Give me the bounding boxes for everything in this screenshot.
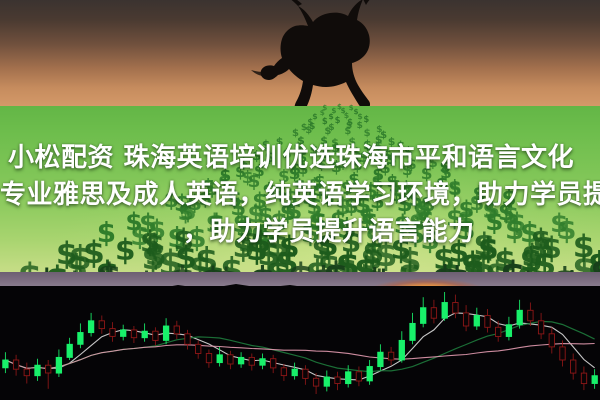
caption-line-1: 小松配资 珠海英语培训优选珠海市平和语言文化 xyxy=(8,140,574,177)
caption-line-3: ，助力学员提升语言能力 xyxy=(183,214,475,251)
dollar-sign-icon: $ xyxy=(335,116,341,124)
candlestick-chart xyxy=(0,286,600,400)
dollar-sign-icon: $ xyxy=(328,113,333,121)
caption-line-2: 专业雅思及成人英语，纯英语学习环境，助力学员提 xyxy=(0,177,600,214)
dollar-sign-icon: $ xyxy=(305,126,312,136)
dollar-sign-icon: $ xyxy=(363,115,369,123)
banner-image: $$$$$$$$$$$$$$$$$$$$$$$$$$$$$$$$$$$$$$$$… xyxy=(0,0,600,400)
dollar-sign-icon: $ xyxy=(356,121,362,130)
dollar-sign-icon: $ xyxy=(322,117,328,125)
